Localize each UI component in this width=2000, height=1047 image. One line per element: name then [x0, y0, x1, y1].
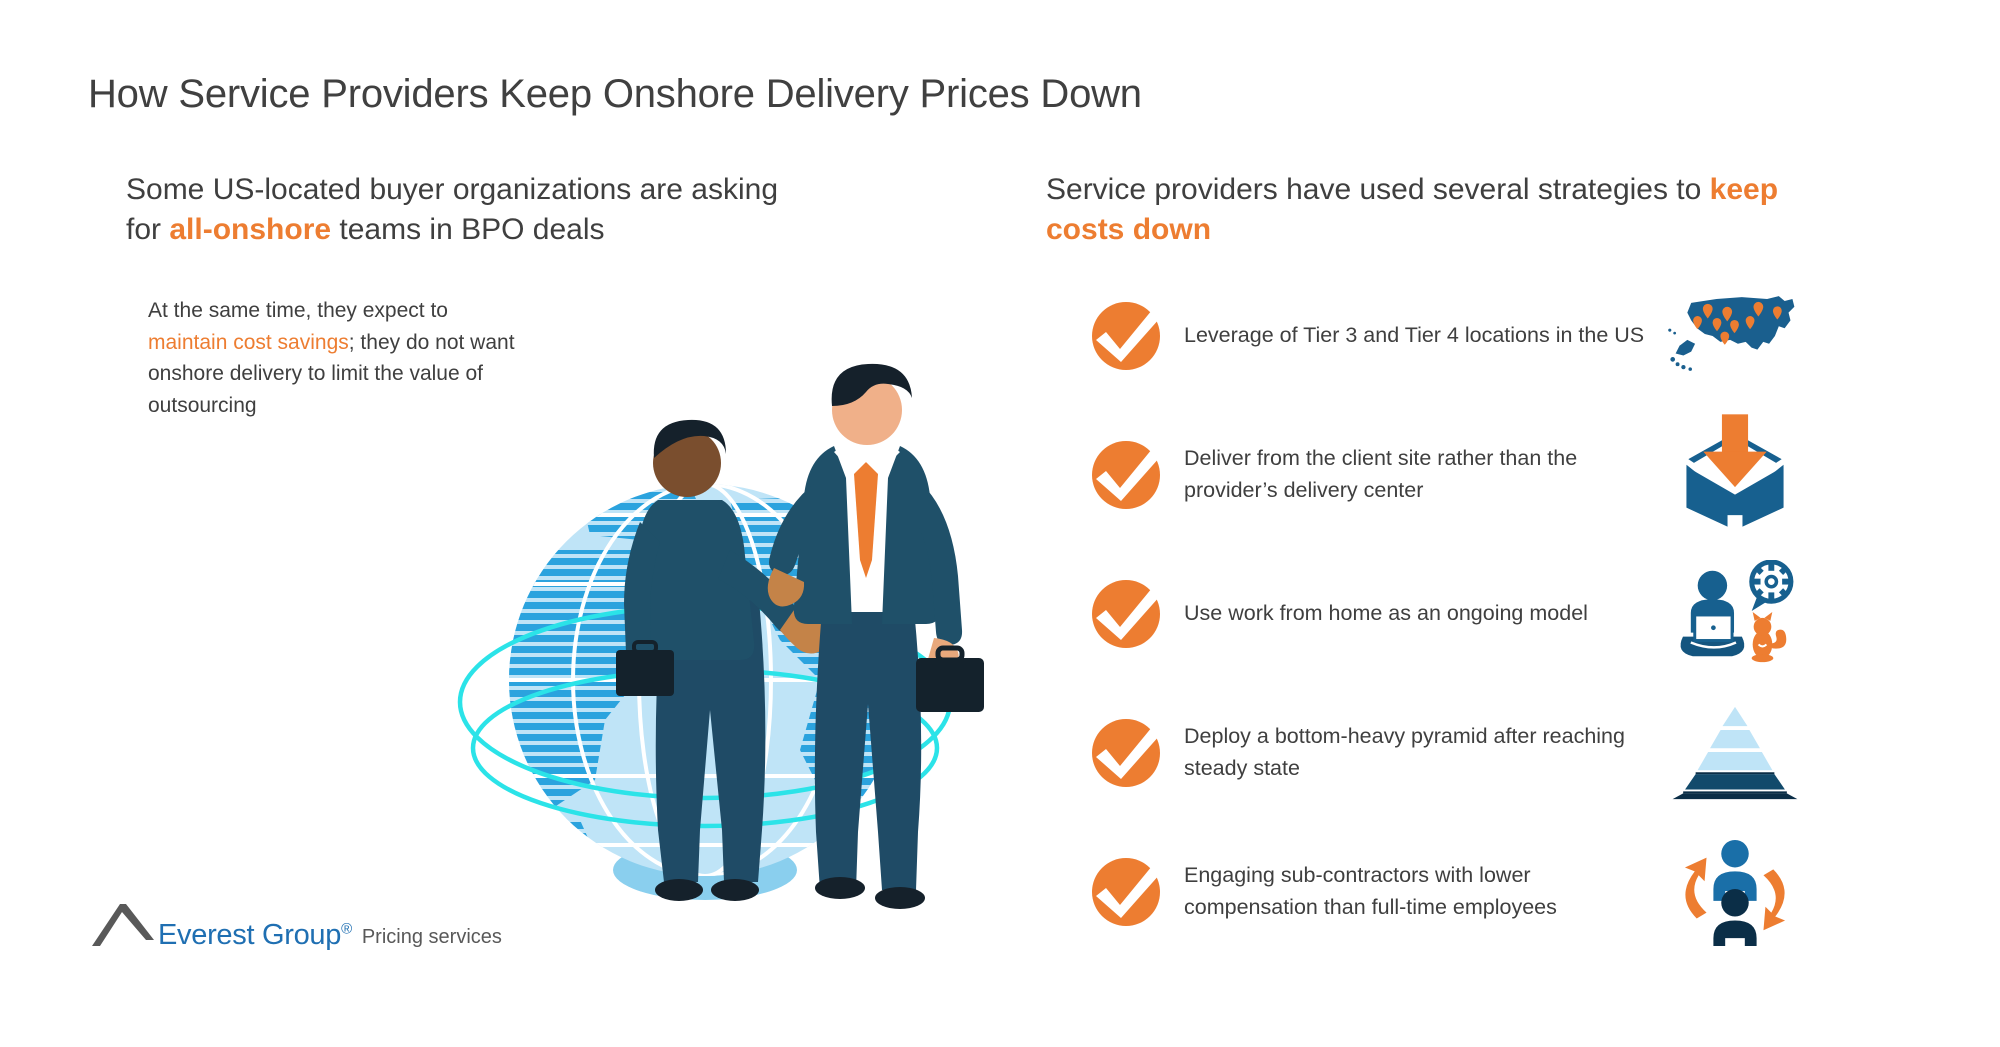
orange-check-circle-icon [1090, 300, 1162, 372]
list-item-label: Engaging sub-contractors with lower comp… [1184, 860, 1654, 924]
mountain-peak-icon [92, 900, 156, 948]
everest-group-logo: Everest Group® Pricing services [92, 900, 502, 948]
paragraph-highlight: maintain cost savings [148, 331, 349, 354]
list-item-label: Deliver from the client site rather than… [1184, 443, 1654, 507]
arrow-into-box-icon [1660, 420, 1810, 530]
right-heading-part1: Service providers have used several stra… [1046, 173, 1710, 206]
registered-mark: ® [341, 920, 352, 937]
us-map-with-location-pins-icon [1660, 281, 1810, 391]
list-item-label: Use work from home as an ongoing model [1184, 598, 1654, 630]
handshake-on-globe-illustration [430, 250, 990, 940]
logo-name-text: Everest Group [158, 919, 341, 951]
orange-check-circle-icon [1090, 439, 1162, 511]
list-item[interactable]: Use work from home as an ongoing model [1090, 566, 1910, 662]
work-from-home-person-laptop-cat-icon [1660, 559, 1810, 669]
logo-wordmark: Everest Group® [158, 919, 352, 952]
strategy-list: Leverage of Tier 3 and Tier 4 locations … [1090, 288, 1910, 983]
paragraph-part1: At the same time, they expect to [148, 299, 448, 322]
list-item-label: Leverage of Tier 3 and Tier 4 locations … [1184, 320, 1654, 352]
list-item[interactable]: Engaging sub-contractors with lower comp… [1090, 844, 1910, 940]
left-heading-highlight: all-onshore [169, 213, 331, 246]
list-item[interactable]: Deliver from the client site rather than… [1090, 427, 1910, 523]
right-column-heading: Service providers have used several stra… [1046, 170, 1806, 249]
list-item[interactable]: Leverage of Tier 3 and Tier 4 locations … [1090, 288, 1910, 384]
left-heading-part2: teams in BPO deals [331, 213, 604, 246]
orange-check-circle-icon [1090, 717, 1162, 789]
layered-pyramid-icon [1660, 698, 1810, 808]
orange-check-circle-icon [1090, 856, 1162, 928]
list-item[interactable]: Deploy a bottom-heavy pyramid after reac… [1090, 705, 1910, 801]
two-people-circular-arrows-icon [1660, 837, 1810, 947]
slide-canvas: How Service Providers Keep Onshore Deliv… [0, 0, 2000, 1047]
left-column-heading: Some US-located buyer organizations are … [126, 170, 786, 249]
list-item-label: Deploy a bottom-heavy pyramid after reac… [1184, 721, 1654, 785]
orange-check-circle-icon [1090, 578, 1162, 650]
logo-tagline: Pricing services [362, 926, 502, 949]
page-title: How Service Providers Keep Onshore Deliv… [88, 72, 1142, 117]
